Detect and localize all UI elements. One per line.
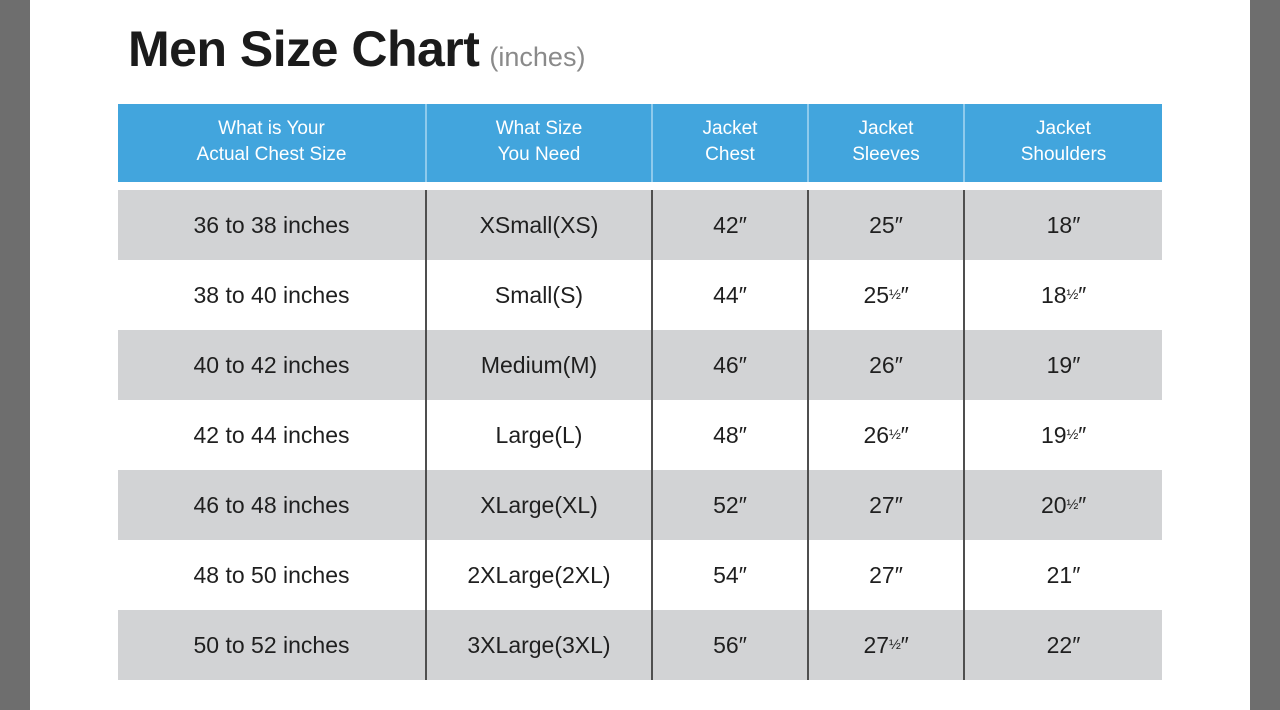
- cell-r2-c3: 26″: [808, 330, 964, 400]
- cell-r1-c1: Small(S): [426, 260, 652, 330]
- spacer-cell: [964, 182, 1162, 190]
- cell-r5-c3: 27″: [808, 540, 964, 610]
- cell-r0-c2: 42″: [652, 190, 808, 260]
- table-row: 46 to 48 inchesXLarge(XL)52″27″20½″: [118, 470, 1162, 540]
- cell-r3-c0: 42 to 44 inches: [118, 400, 426, 470]
- right-frame-band: [1250, 0, 1280, 710]
- table-row: 38 to 40 inchesSmall(S)44″25½″18½″: [118, 260, 1162, 330]
- cell-r6-c4: 22″: [964, 610, 1162, 680]
- table-body: 36 to 38 inchesXSmall(XS)42″25″18″38 to …: [118, 182, 1162, 680]
- cell-r4-c3: 27″: [808, 470, 964, 540]
- cell-r2-c2: 46″: [652, 330, 808, 400]
- cell-r3-c3: 26½″: [808, 400, 964, 470]
- header-body-spacer: [118, 182, 1162, 190]
- size-chart-table: What is Your Actual Chest SizeWhat Size …: [118, 104, 1162, 680]
- column-header-1: What Size You Need: [426, 104, 652, 182]
- table-header: What is Your Actual Chest SizeWhat Size …: [118, 104, 1162, 182]
- cell-r1-c4: 18½″: [964, 260, 1162, 330]
- cell-r6-c2: 56″: [652, 610, 808, 680]
- cell-r4-c1: XLarge(XL): [426, 470, 652, 540]
- cell-r2-c4: 19″: [964, 330, 1162, 400]
- page-canvas: Men Size Chart (inches) What is Your Act…: [30, 0, 1250, 710]
- cell-r5-c1: 2XLarge(2XL): [426, 540, 652, 610]
- cell-r5-c0: 48 to 50 inches: [118, 540, 426, 610]
- cell-r4-c0: 46 to 48 inches: [118, 470, 426, 540]
- column-header-4: Jacket Shoulders: [964, 104, 1162, 182]
- cell-r1-c3: 25½″: [808, 260, 964, 330]
- table-row: 50 to 52 inches3XLarge(3XL)56″27½″22″: [118, 610, 1162, 680]
- table-row: 48 to 50 inches2XLarge(2XL)54″27″21″: [118, 540, 1162, 610]
- spacer-cell: [652, 182, 808, 190]
- table-row: 40 to 42 inchesMedium(M)46″26″19″: [118, 330, 1162, 400]
- spacer-cell: [118, 182, 426, 190]
- cell-r0-c4: 18″: [964, 190, 1162, 260]
- cell-r0-c1: XSmall(XS): [426, 190, 652, 260]
- cell-r6-c3: 27½″: [808, 610, 964, 680]
- table-row: 36 to 38 inchesXSmall(XS)42″25″18″: [118, 190, 1162, 260]
- cell-r2-c0: 40 to 42 inches: [118, 330, 426, 400]
- cell-r4-c4: 20½″: [964, 470, 1162, 540]
- column-header-2: Jacket Chest: [652, 104, 808, 182]
- cell-r0-c3: 25″: [808, 190, 964, 260]
- cell-r3-c2: 48″: [652, 400, 808, 470]
- column-header-3: Jacket Sleeves: [808, 104, 964, 182]
- column-header-0: What is Your Actual Chest Size: [118, 104, 426, 182]
- page-title: Men Size Chart (inches): [128, 20, 585, 78]
- spacer-cell: [426, 182, 652, 190]
- cell-r4-c2: 52″: [652, 470, 808, 540]
- cell-r6-c1: 3XLarge(3XL): [426, 610, 652, 680]
- cell-r0-c0: 36 to 38 inches: [118, 190, 426, 260]
- table-row: 42 to 44 inchesLarge(L)48″26½″19½″: [118, 400, 1162, 470]
- cell-r3-c4: 19½″: [964, 400, 1162, 470]
- cell-r3-c1: Large(L): [426, 400, 652, 470]
- cell-r2-c1: Medium(M): [426, 330, 652, 400]
- cell-r1-c0: 38 to 40 inches: [118, 260, 426, 330]
- cell-r6-c0: 50 to 52 inches: [118, 610, 426, 680]
- left-frame-band: [0, 0, 30, 710]
- cell-r5-c4: 21″: [964, 540, 1162, 610]
- spacer-cell: [808, 182, 964, 190]
- header-row: What is Your Actual Chest SizeWhat Size …: [118, 104, 1162, 182]
- page-title-unit: (inches): [489, 42, 585, 73]
- cell-r5-c2: 54″: [652, 540, 808, 610]
- cell-r1-c2: 44″: [652, 260, 808, 330]
- page-title-main: Men Size Chart: [128, 20, 479, 78]
